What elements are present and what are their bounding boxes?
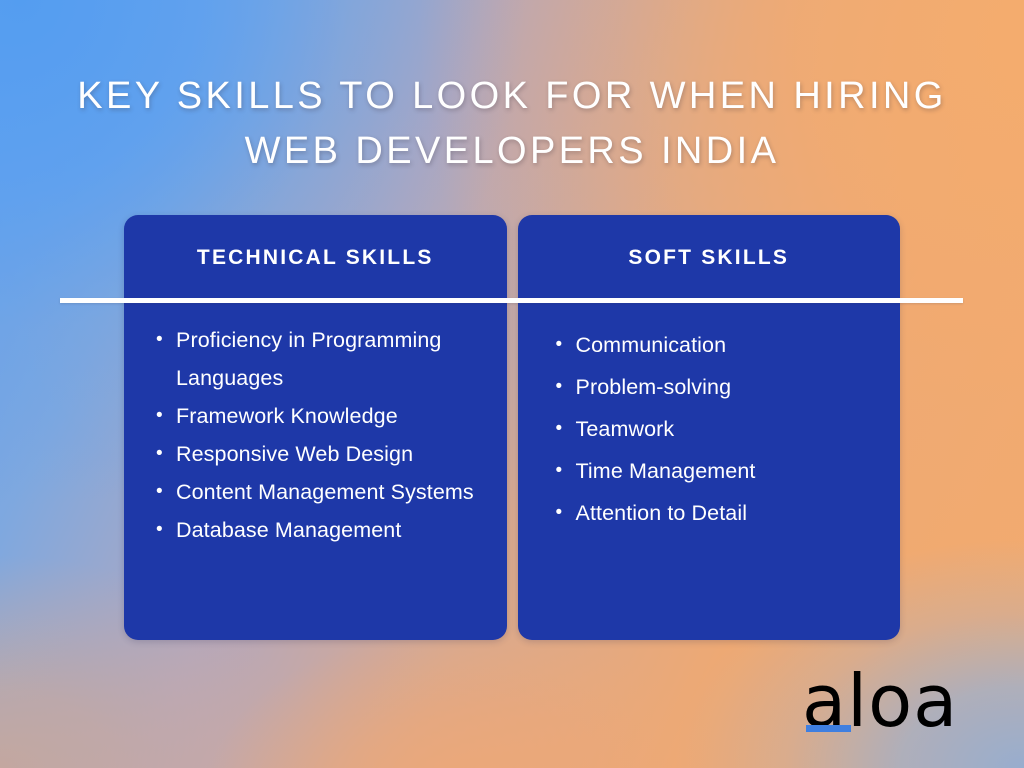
page-title-line-2: WEB DEVELOPERS INDIA [0, 124, 1024, 179]
card-technical-skills-title: TECHNICAL SKILLS [197, 246, 434, 270]
list-item: Problem-solving [548, 366, 883, 408]
card-soft-skills-title: SOFT SKILLS [628, 246, 789, 270]
list-item: Communication [548, 324, 883, 366]
page-title: KEY SKILLS TO LOOK FOR WHEN HIRING WEB D… [0, 69, 1024, 179]
technical-skills-list: Proficiency in Programming Languages Fra… [148, 321, 495, 549]
infographic-poster: KEY SKILLS TO LOOK FOR WHEN HIRING WEB D… [0, 0, 1024, 768]
skills-card-group: TECHNICAL SKILLS Proficiency in Programm… [124, 215, 900, 640]
card-soft-skills: SOFT SKILLS Communication Problem-solvin… [518, 215, 901, 640]
header-divider-line [60, 298, 963, 303]
list-item: Proficiency in Programming Languages [148, 321, 495, 397]
list-item: Teamwork [548, 408, 883, 450]
list-item: Database Management [148, 511, 495, 549]
aloa-logo: aloa [802, 665, 964, 751]
card-soft-skills-body: Communication Problem-solving Teamwork T… [518, 301, 901, 534]
page-title-line-1: KEY SKILLS TO LOOK FOR WHEN HIRING [0, 69, 1024, 124]
aloa-logo-underline-accent [806, 725, 851, 732]
soft-skills-list: Communication Problem-solving Teamwork T… [548, 324, 883, 534]
card-technical-skills-header: TECHNICAL SKILLS [124, 215, 507, 301]
card-technical-skills-body: Proficiency in Programming Languages Fra… [124, 301, 507, 549]
card-soft-skills-header: SOFT SKILLS [518, 215, 901, 301]
list-item: Time Management [548, 450, 883, 492]
card-technical-skills: TECHNICAL SKILLS Proficiency in Programm… [124, 215, 507, 640]
list-item: Responsive Web Design [148, 435, 495, 473]
list-item: Content Management Systems [148, 473, 495, 511]
list-item: Attention to Detail [548, 492, 883, 534]
list-item: Framework Knowledge [148, 397, 495, 435]
